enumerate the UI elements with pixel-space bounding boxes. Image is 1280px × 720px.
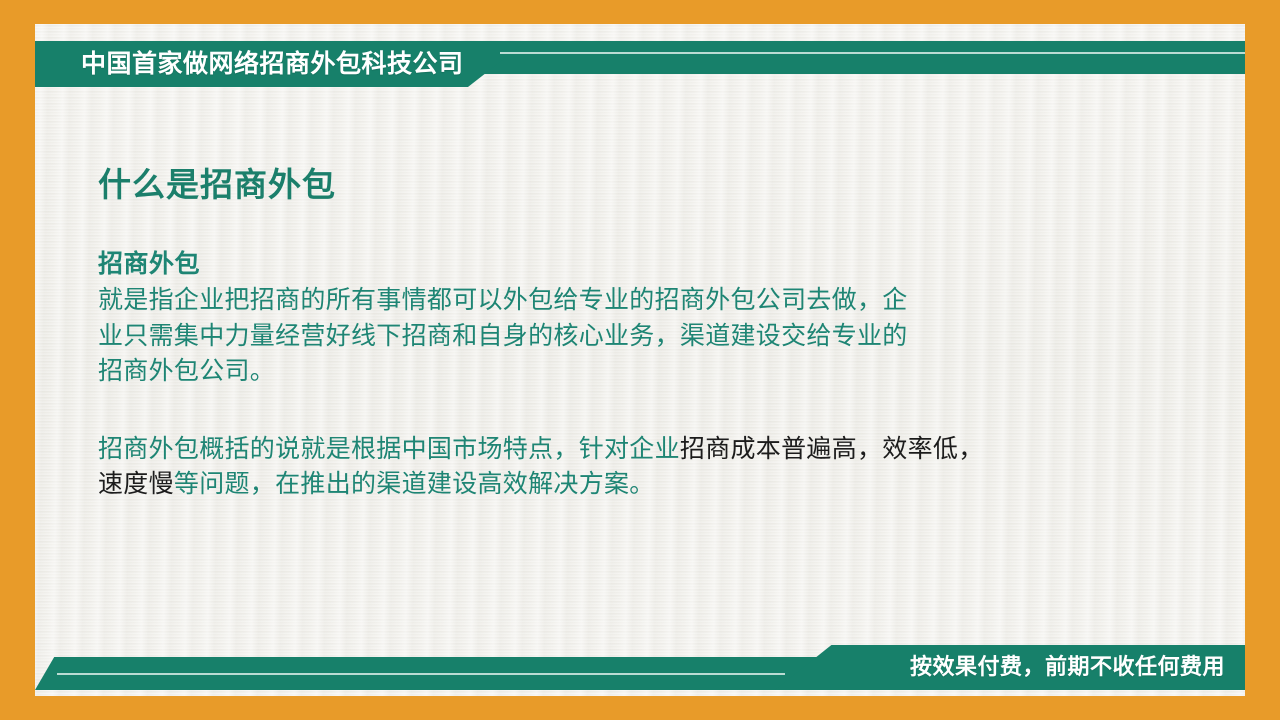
paragraph-two-line-1-teal: 招商外包概括的说就是根据中国市场特点，针对企业 (98, 434, 680, 463)
paragraph-one-line-3: 招商外包公司。 (98, 353, 1228, 389)
paragraph-two-line-1: 招商外包概括的说就是根据中国市场特点，针对企业招商成本普遍高，效率低， (98, 431, 1228, 467)
paragraph-two-line-2-teal: 等问题，在推出的渠道建设高效解决方案。 (174, 469, 655, 498)
paragraph-two-line-2: 速度慢等问题，在推出的渠道建设高效解决方案。 (98, 466, 1228, 502)
header-separator-line (500, 52, 1245, 54)
paragraph-two-line-1-emphasis: 招商成本普遍高，效率低， (680, 434, 984, 463)
paragraph-one-line-2: 业只需集中力量经营好线下招商和自身的核心业务，渠道建设交给专业的 (98, 318, 1228, 354)
paragraph-one: 就是指企业把招商的所有事情都可以外包给专业的招商外包公司去做，企 业只需集中力量… (98, 282, 1228, 389)
paragraph-spacer (98, 389, 1228, 431)
content-area: 什么是招商外包 招商外包 就是指企业把招商的所有事情都可以外包给专业的招商外包公… (98, 165, 1228, 502)
paragraph-one-line-1: 就是指企业把招商的所有事情都可以外包给专业的招商外包公司去做，企 (98, 282, 1228, 318)
footer-tagline: 按效果付费，前期不收任何费用 (910, 645, 1225, 690)
header-title: 中国首家做网络招商外包科技公司 (81, 41, 464, 87)
paragraph-two-line-2-emphasis: 速度慢 (98, 469, 174, 498)
slide: 中国首家做网络招商外包科技公司 什么是招商外包 招商外包 就是指企业把招商的所有… (0, 0, 1280, 720)
footer-separator-line (57, 673, 785, 675)
header-thin-bar (455, 41, 1245, 74)
footer-band: 按效果付费，前期不收任何费用 (35, 645, 1245, 696)
header-band: 中国首家做网络招商外包科技公司 (35, 35, 1245, 87)
sub-heading: 招商外包 (98, 247, 1228, 281)
page-title: 什么是招商外包 (98, 165, 1228, 205)
paragraph-two: 招商外包概括的说就是根据中国市场特点，针对企业招商成本普遍高，效率低， 速度慢等… (98, 431, 1228, 502)
